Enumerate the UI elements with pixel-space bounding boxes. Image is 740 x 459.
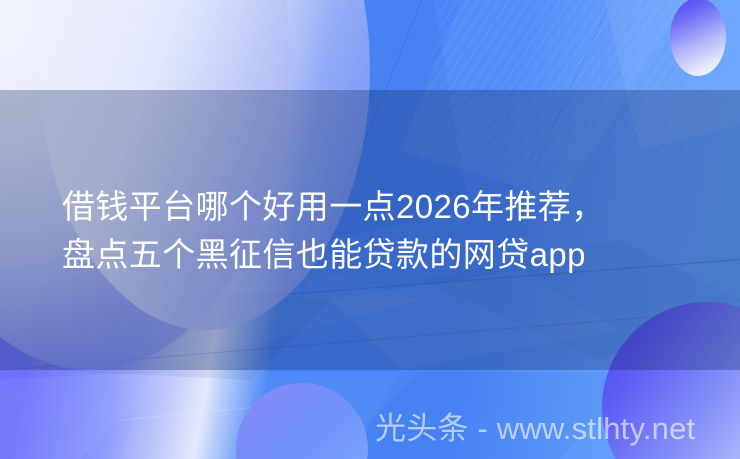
orb-topright (670, 0, 726, 76)
banner-title-line-2: 盘点五个黑征信也能贷款的网贷app (62, 231, 702, 279)
promo-banner: 借钱平台哪个好用一点2026年推荐， 盘点五个黑征信也能贷款的网贷app 光头条… (0, 0, 740, 459)
banner-title-line-1: 借钱平台哪个好用一点2026年推荐， (62, 183, 702, 231)
banner-title: 借钱平台哪个好用一点2026年推荐， 盘点五个黑征信也能贷款的网贷app (62, 183, 702, 279)
site-watermark: 光头条 - www.stlhty.net (375, 409, 695, 449)
